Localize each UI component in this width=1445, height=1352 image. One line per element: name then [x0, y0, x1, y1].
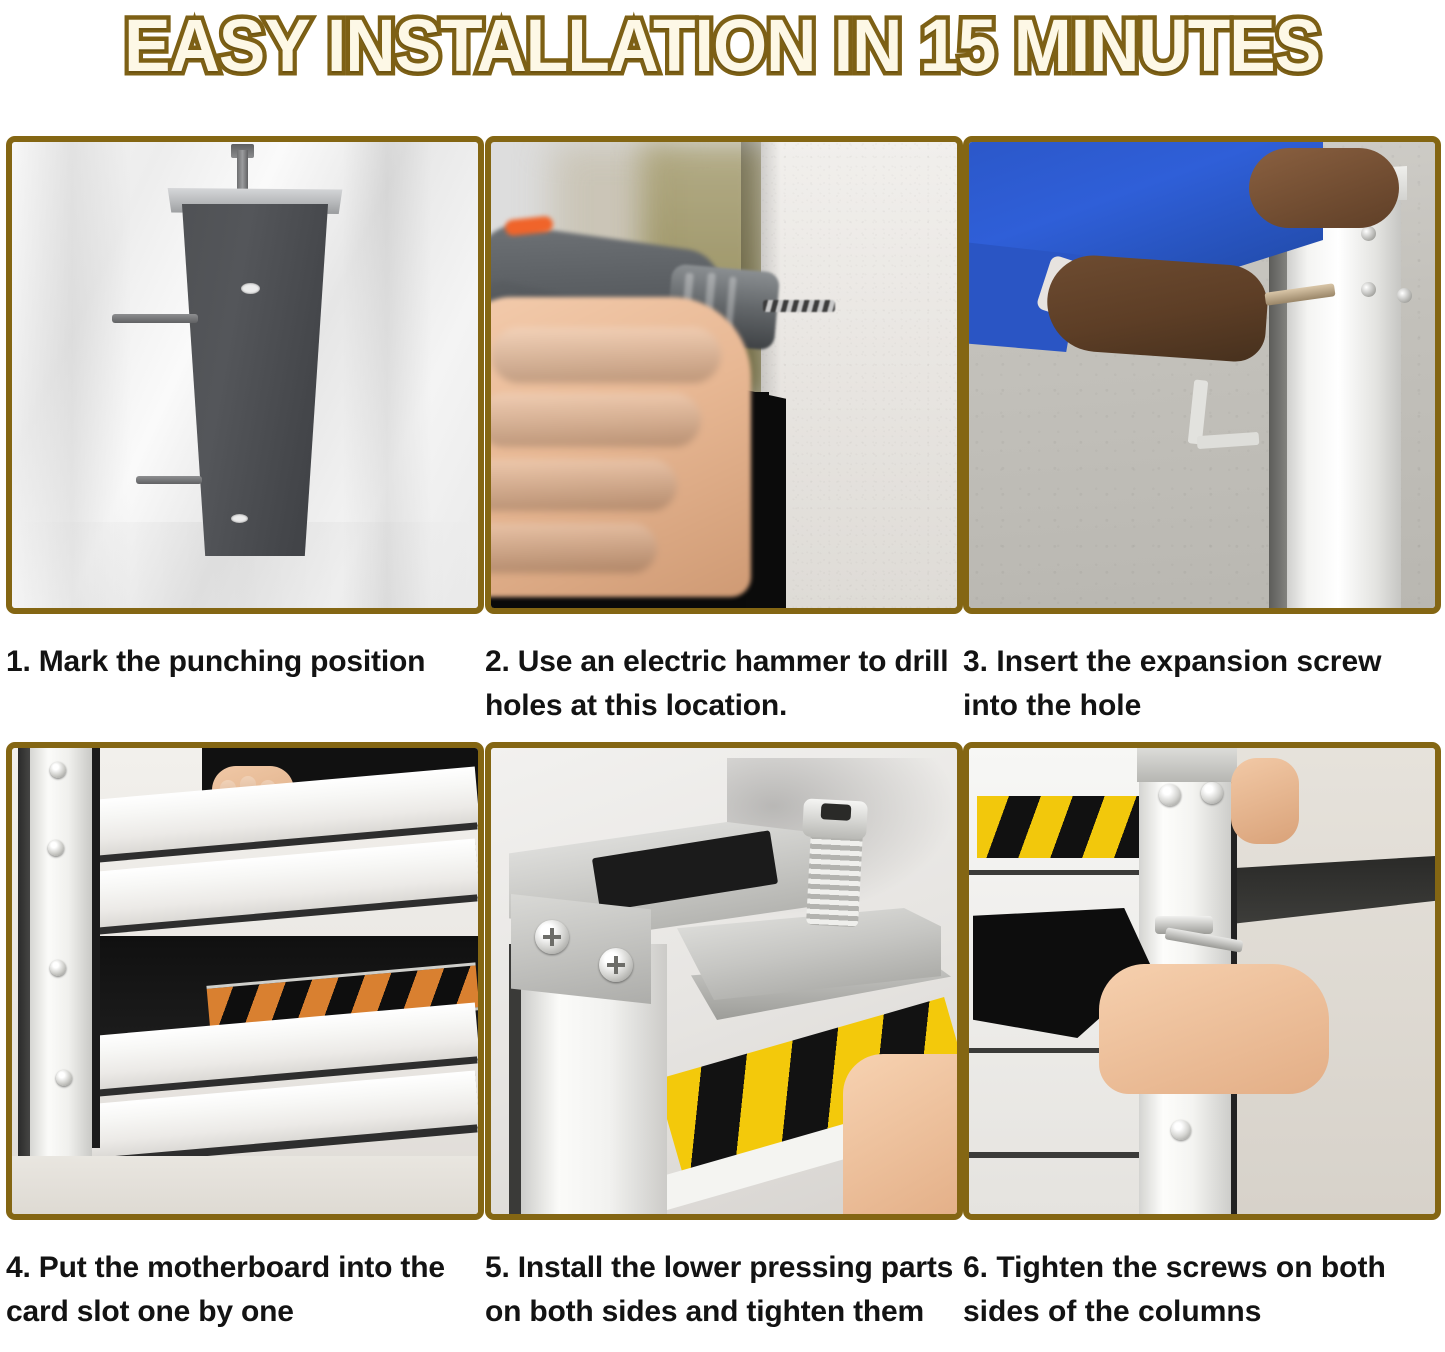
column-screw: [1201, 782, 1223, 804]
upper-hand: [1249, 148, 1399, 228]
installation-guide-infographic: EASY INSTALLATION IN 15 MINUTES: [0, 0, 1445, 1352]
step-2-drill-holes-photo: [485, 136, 963, 614]
step-card-6: 6. Tighten the screws on both sides of t…: [963, 742, 1441, 1334]
step-4-insert-boards-photo: [6, 742, 484, 1220]
step-card-5: 5. Install the lower pressing parts on b…: [485, 742, 963, 1334]
column-screw: [1159, 784, 1181, 806]
drill-bit: [763, 300, 835, 312]
step-3-caption: 3. Insert the expansion screw into the h…: [963, 640, 1433, 728]
forearm: [1044, 252, 1270, 363]
steps-grid: 1. Mark the punching position: [0, 0, 1445, 1352]
hex-socket-recess: [821, 803, 852, 821]
mounting-hole-lower: [231, 514, 248, 523]
step-4-caption: 4. Put the motherboard into the card slo…: [6, 1246, 476, 1334]
step-1-caption: 1. Mark the punching position: [6, 640, 476, 684]
step-1-mark-punching-position-photo: [6, 136, 484, 614]
mounting-hole-upper: [241, 283, 260, 294]
second-hand: [1231, 758, 1299, 844]
step-2-caption: 2. Use an electric hammer to drill holes…: [485, 640, 955, 728]
white-post: [30, 748, 92, 1158]
side-pin-lower: [136, 476, 202, 484]
step-card-2: 2. Use an electric hammer to drill holes…: [485, 136, 963, 728]
step-card-4: 4. Put the motherboard into the card slo…: [6, 742, 484, 1334]
hazard-stripe: [977, 796, 1151, 858]
column-screw: [1171, 1120, 1191, 1140]
step-5-install-pressing-parts-photo: [485, 742, 963, 1220]
step-3-insert-expansion-screw-photo: [963, 136, 1441, 614]
top-bolt: [237, 150, 248, 194]
step-6-caption: 6. Tighten the screws on both sides of t…: [963, 1246, 1433, 1334]
step-6-tighten-column-screws-photo: [963, 742, 1441, 1220]
step-card-1: 1. Mark the punching position: [6, 136, 484, 684]
side-pin-upper: [112, 314, 198, 323]
phillips-screw: [535, 920, 569, 954]
hand: [843, 1054, 957, 1214]
step-card-3: 3. Insert the expansion screw into the h…: [963, 136, 1441, 728]
hand: [1099, 964, 1329, 1094]
floor: [12, 1156, 478, 1214]
phillips-screw: [599, 948, 633, 982]
step-5-caption: 5. Install the lower pressing parts on b…: [485, 1246, 955, 1334]
hand: [491, 297, 751, 597]
